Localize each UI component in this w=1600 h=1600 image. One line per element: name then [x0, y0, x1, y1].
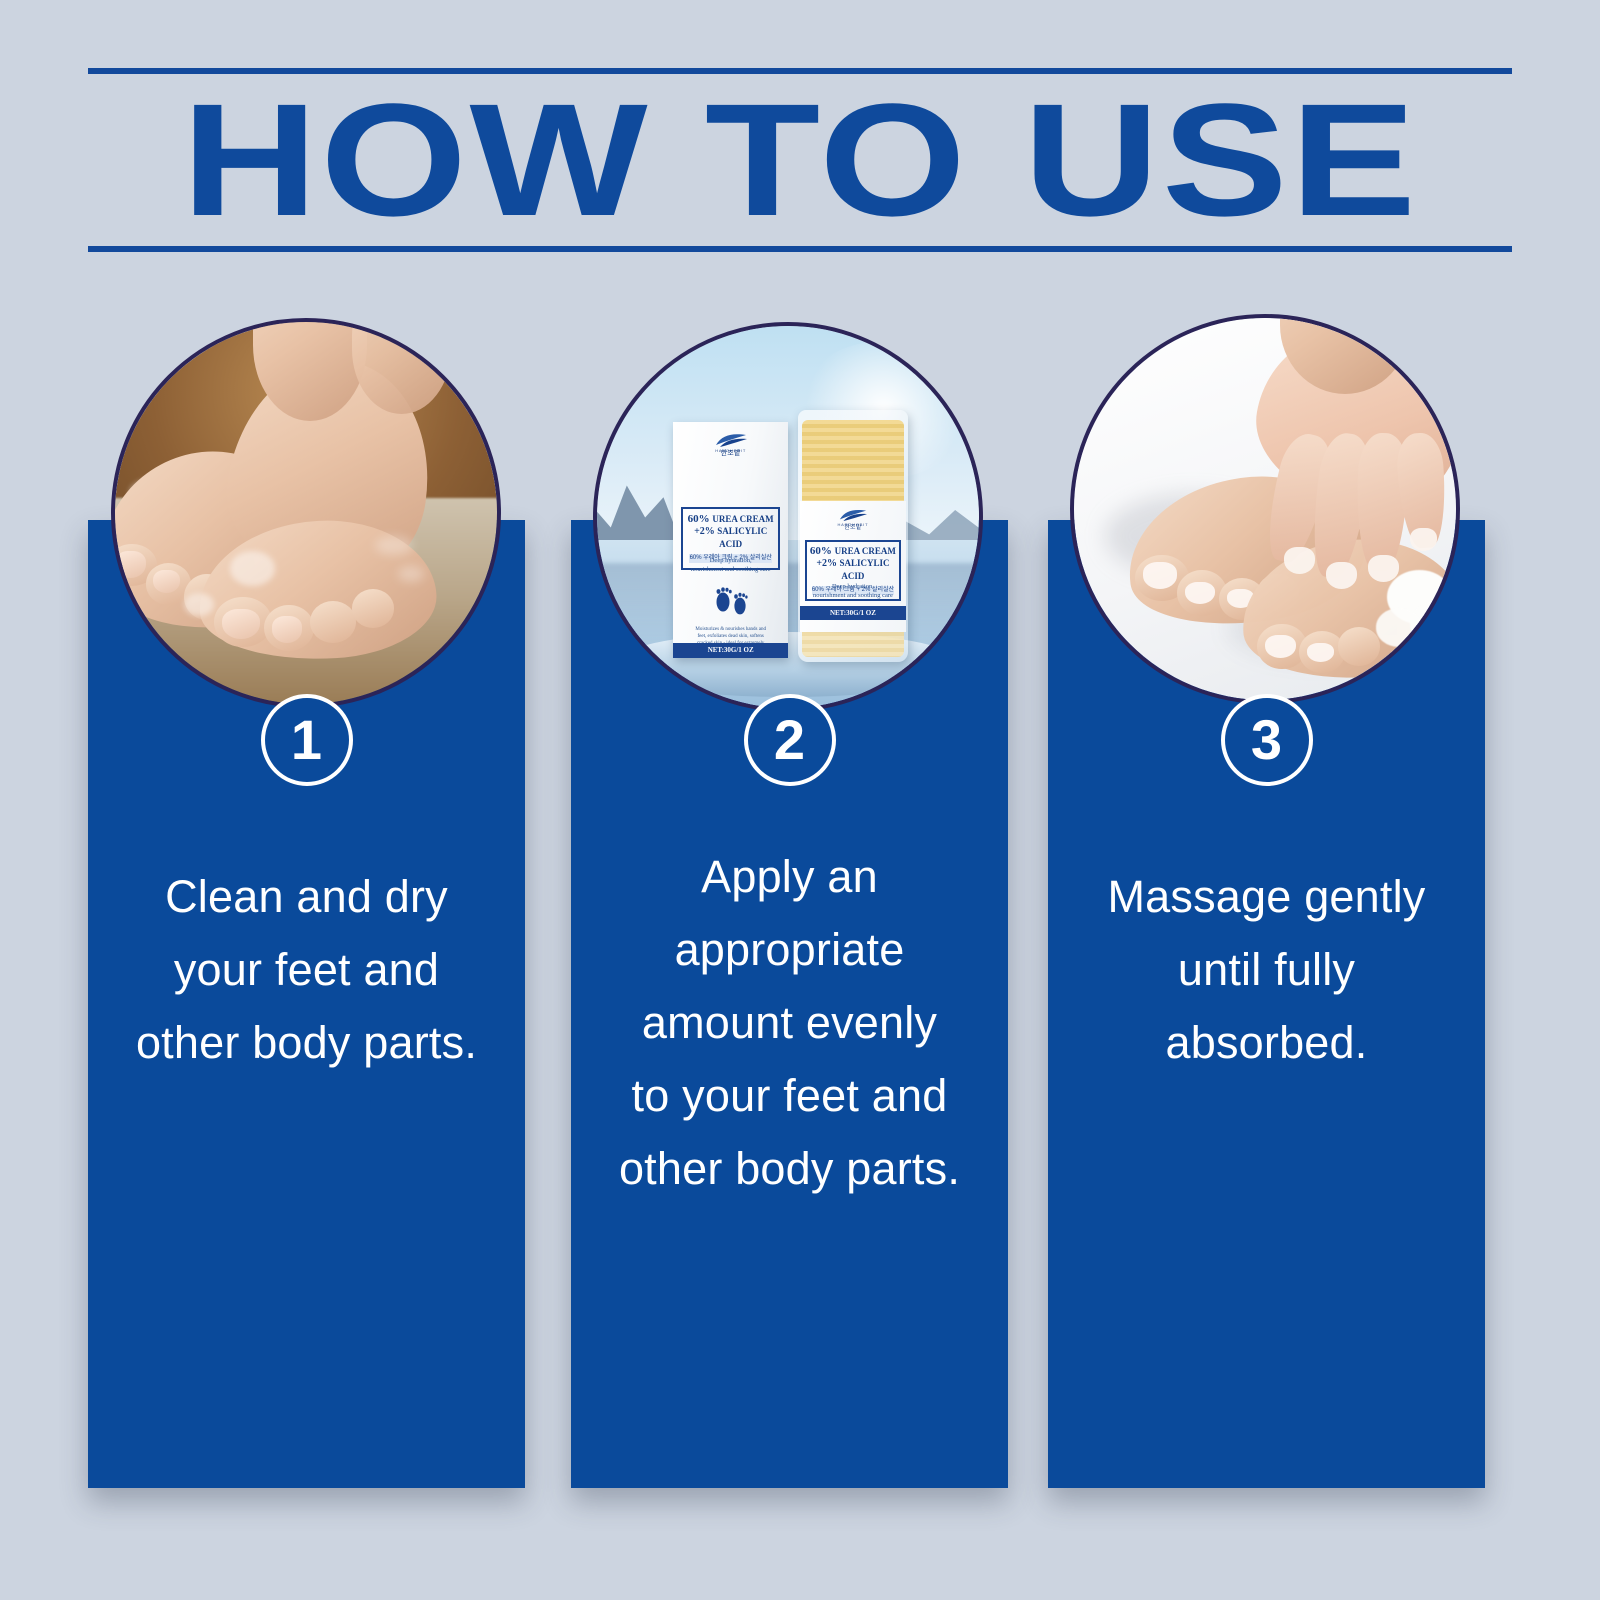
- step-card-1: 1 Clean and dry your feet and other body…: [88, 520, 525, 1488]
- step-3-caption-line-1: Massage gently: [1058, 860, 1475, 933]
- step-3-caption-line-2: until fully: [1058, 933, 1475, 1006]
- step-2-caption: Apply an appropriate amount evenly to yo…: [581, 840, 998, 1205]
- stick-subline-rest: SALICYLIC ACID: [840, 558, 890, 581]
- step-2-caption-line-3: amount evenly: [581, 986, 998, 1059]
- stick-tagline-line-2: nourishment and soothing care: [804, 591, 902, 600]
- step-1-number-badge: 1: [261, 694, 353, 786]
- step-3-number-badge: 3: [1221, 694, 1313, 786]
- product-headline-percent: 60%: [688, 513, 710, 525]
- step-1-caption-line-2: your feet and: [98, 933, 515, 1006]
- product-box: 한조밭 HANGHOBIT 60% UREA CREAM +2% SALICYL…: [673, 422, 788, 659]
- step-1-caption-line-3: other body parts.: [98, 1006, 515, 1079]
- product-brand-latin: HANGHOBIT: [673, 448, 788, 453]
- step-3-caption: Massage gently until fully absorbed.: [1058, 860, 1475, 1079]
- page-title: HOW TO USE: [0, 78, 1600, 242]
- step-2-number-badge: 2: [744, 694, 836, 786]
- step-2-caption-line-1: Apply an: [581, 840, 998, 913]
- stick-tagline-line-1: Deep hydration,: [804, 582, 902, 591]
- product-fine-print-1: Moisturizes & nourishes hands and: [680, 626, 781, 633]
- stick-brand-latin: HANGHOBIT: [800, 522, 906, 527]
- brand-wave-icon: [714, 432, 748, 448]
- title-rule-bottom: [88, 246, 1512, 252]
- step-3-caption-line-3: absorbed.: [1058, 1006, 1475, 1079]
- step-2-caption-line-2: appropriate: [581, 913, 998, 986]
- step-card-3: 3 Massage gently until fully absorbed.: [1048, 520, 1485, 1488]
- product-fine-print-2: feet, exfoliates dead skin, softens: [680, 633, 781, 640]
- infographic-canvas: HOW TO USE: [0, 0, 1600, 1600]
- brand-wave-icon-stick: [838, 508, 868, 522]
- product-tagline-line-2: nourishment and soothing care: [679, 565, 782, 574]
- product-box-net-weight: NET:30G/1 OZ: [673, 643, 788, 658]
- stick-net-weight: NET:30G/1 OZ: [800, 606, 906, 620]
- product-tagline-line-1: Deep hydration,: [679, 556, 782, 565]
- step-2-caption-line-4: to your feet and: [581, 1059, 998, 1132]
- step-1-caption: Clean and dry your feet and other body p…: [98, 860, 515, 1079]
- step-2-photo: 한조밭 HANGHOBIT 60% UREA CREAM +2% SALICYL…: [593, 322, 983, 712]
- product-subline-rest: SALICYLIC ACID: [717, 526, 767, 549]
- stick-headline-rest: UREA CREAM: [835, 546, 896, 556]
- product-subline-percent: +2%: [694, 526, 715, 537]
- step-1-photo: [111, 318, 501, 708]
- step-card-2: 한조밭 HANGHOBIT 60% UREA CREAM +2% SALICYL…: [571, 520, 1008, 1488]
- footprints-icon: [711, 583, 751, 617]
- product-headline-rest: UREA CREAM: [712, 514, 773, 524]
- product-stick: 한조밭 HANGHOBIT 60% UREA CREAM +2% SALICYL…: [798, 410, 909, 662]
- step-2-caption-line-5: other body parts.: [581, 1132, 998, 1205]
- step-3-photo: [1070, 314, 1460, 704]
- stick-subline-percent: +2%: [816, 558, 837, 569]
- stick-headline-percent: 60%: [810, 545, 832, 557]
- step-1-caption-line-1: Clean and dry: [98, 860, 515, 933]
